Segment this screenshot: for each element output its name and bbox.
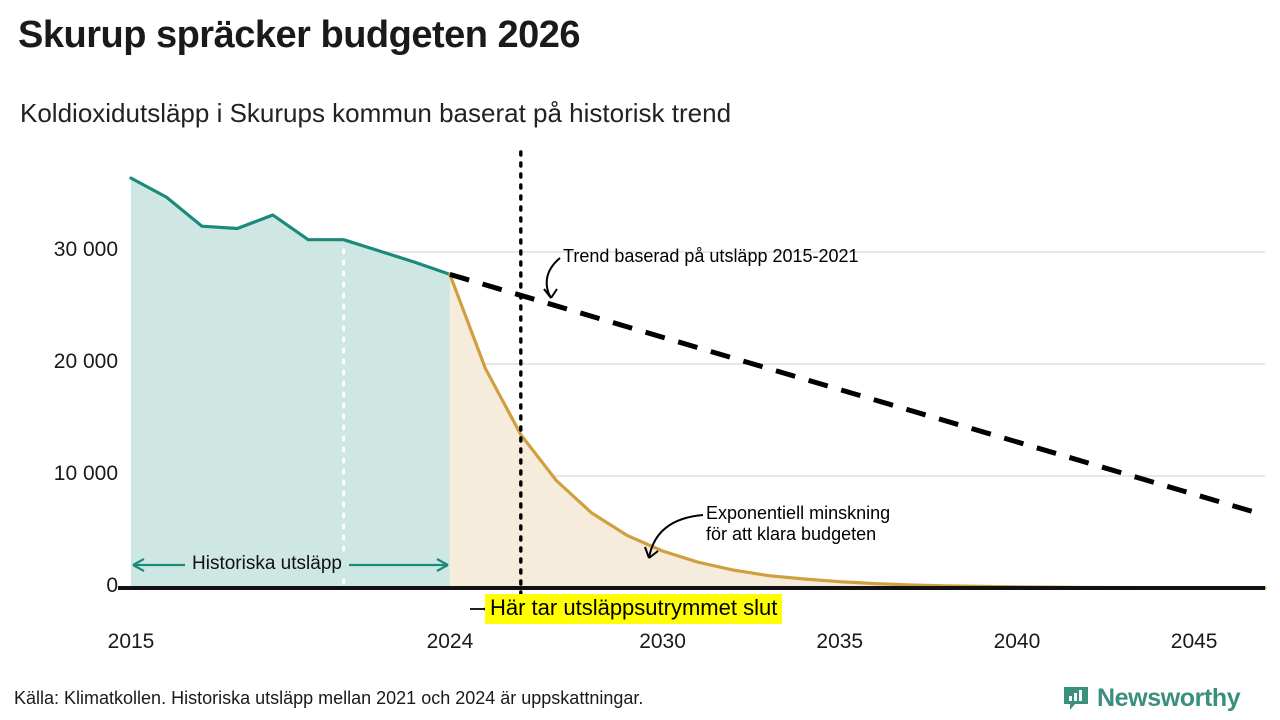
x-axis-tick-label: 2030: [618, 630, 708, 654]
y-axis-tick-label: 30 000: [8, 238, 118, 262]
newsworthy-logo: Newsworthy: [1062, 684, 1240, 713]
annotation-exponential-line1: Exponentiell minskning: [706, 503, 890, 524]
logo-text: Newsworthy: [1097, 684, 1240, 713]
y-axis-tick-label: 0: [8, 574, 118, 598]
annotation-budget-end: Här tar utsläppsutrymmet slut: [485, 594, 782, 624]
x-axis-tick-label: 2045: [1149, 630, 1239, 654]
chart-page: Skurup spräcker budgeten 2026 Koldioxidu…: [0, 0, 1280, 720]
historical-bracket-label: Historiska utsläpp: [185, 553, 349, 575]
x-axis-tick-label: 2040: [972, 630, 1062, 654]
source-note: Källa: Klimatkollen. Historiska utsläpp …: [14, 688, 643, 709]
chart-svg: [0, 0, 1280, 680]
annotation-trend: Trend baserad på utsläpp 2015-2021: [563, 246, 859, 267]
series-layer: [131, 178, 1265, 588]
plot-area: 010 00020 00030 000 20152024203020352040…: [0, 0, 1280, 680]
x-axis-tick-label: 2015: [86, 630, 176, 654]
annotation-exponential: Exponentiell minskning för att klara bud…: [706, 503, 890, 545]
annotation-exponential-line2: för att klara budgeten: [706, 524, 890, 545]
y-axis-tick-label: 20 000: [8, 350, 118, 374]
x-axis-tick-label: 2035: [795, 630, 885, 654]
bar-chart-bubble-icon: [1062, 685, 1090, 713]
x-axis-tick-label: 2024: [405, 630, 495, 654]
annotation-trend-text: Trend baserad på utsläpp 2015-2021: [563, 246, 859, 266]
y-axis-tick-label: 10 000: [8, 462, 118, 486]
